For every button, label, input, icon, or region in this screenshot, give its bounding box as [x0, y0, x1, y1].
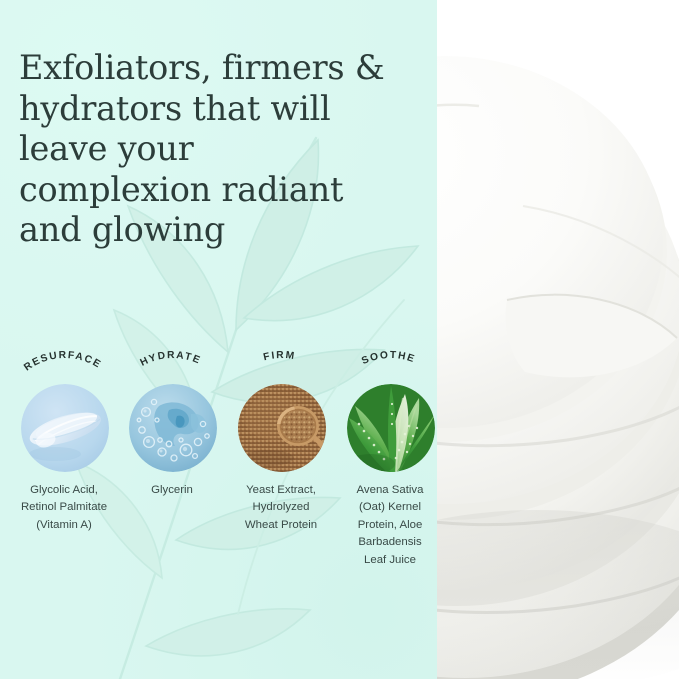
mint-info-panel: Exfoliators, firmers & hydrators that wi… [0, 0, 437, 679]
ingredient-label: FIRM [262, 350, 296, 363]
ingredient-label: RESURFACE [22, 350, 103, 373]
ingredient-caption: Yeast Extract, Hydrolyzed Wheat Protein [220, 482, 342, 534]
ingredient-swatch-aloe [347, 384, 435, 472]
ingredient-caption: Glycolic Acid, Retinol Palmitate (Vitami… [3, 482, 125, 534]
headline: Exfoliators, firmers & hydrators that wi… [19, 48, 419, 251]
ingredient-swatch-cream [21, 384, 109, 472]
svg-text:HYDRATE: HYDRATE [139, 350, 203, 369]
product-photo-panel [437, 0, 679, 679]
ingredient-label: SOOTHE [360, 350, 417, 367]
ingredient-row: RESURFACE [0, 352, 437, 612]
svg-text:SOOTHE: SOOTHE [360, 350, 417, 367]
ingredient-swatch-gel [129, 384, 217, 472]
ingredient-caption: Avena Sativa (Oat) Kernel Protein, Aloe … [329, 482, 437, 569]
svg-text:FIRM: FIRM [262, 350, 296, 363]
ingredient-caption: Glycerin [111, 482, 233, 499]
ingredient-label: HYDRATE [139, 350, 203, 369]
svg-text:RESURFACE: RESURFACE [22, 350, 103, 373]
promotional-graphic: Exfoliators, firmers & hydrators that wi… [0, 0, 679, 679]
cotton-pad-stack [437, 0, 679, 679]
ingredient-swatch-grains [238, 384, 326, 472]
